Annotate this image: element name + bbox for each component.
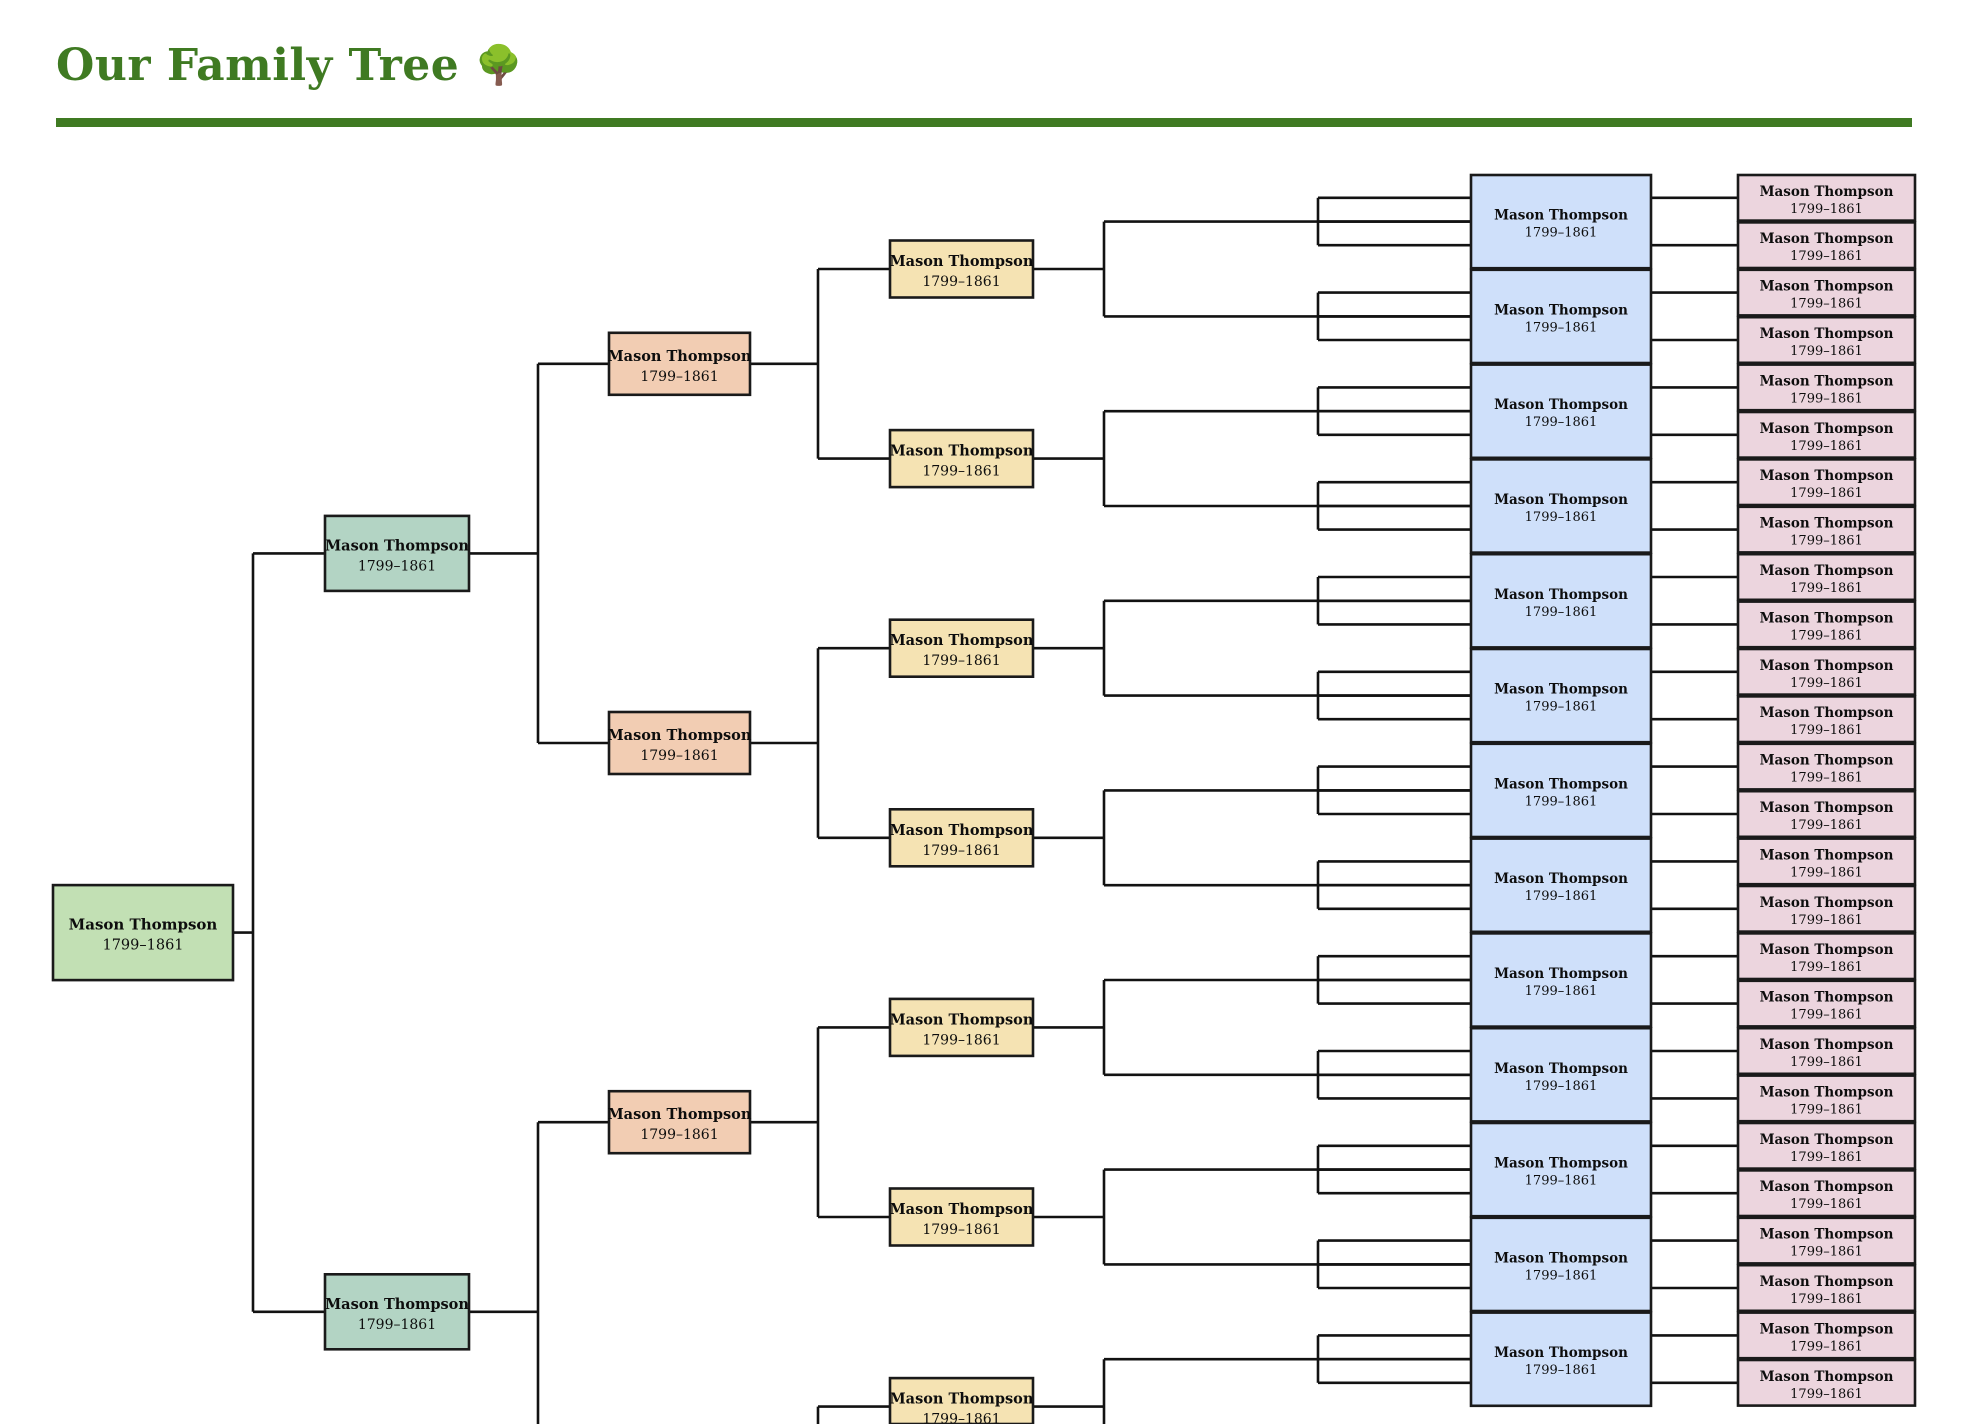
person-dates: 1799–1861 bbox=[1525, 605, 1598, 620]
person-node-generation-2[interactable]: Mason Thompson1799–1861 bbox=[325, 1274, 469, 1349]
person-node-generation-6[interactable]: Mason Thompson1799–1861 bbox=[1738, 175, 1915, 221]
person-dates: 1799–1861 bbox=[1790, 344, 1863, 359]
person-node-generation-2[interactable]: Mason Thompson1799–1861 bbox=[325, 516, 469, 591]
person-dates: 1799–1861 bbox=[1790, 1008, 1863, 1023]
person-dates: 1799–1861 bbox=[1790, 534, 1863, 549]
person-dates: 1799–1861 bbox=[1525, 510, 1598, 525]
person-name: Mason Thompson bbox=[1494, 682, 1628, 698]
person-name: Mason Thompson bbox=[1760, 847, 1894, 863]
person-dates: 1799–1861 bbox=[1525, 1079, 1598, 1094]
family-tree-canvas: Mason Thompson1799–1861Mason Thompson179… bbox=[0, 0, 1968, 1424]
person-node-generation-4[interactable]: Mason Thompson1799–1861 bbox=[890, 241, 1034, 298]
person-node-generation-6[interactable]: Mason Thompson1799–1861 bbox=[1738, 1265, 1915, 1311]
person-node-generation-6[interactable]: Mason Thompson1799–1861 bbox=[1738, 696, 1915, 742]
person-name: Mason Thompson bbox=[1760, 1179, 1894, 1195]
person-dates: 1799–1861 bbox=[1790, 1339, 1863, 1354]
person-dates: 1799–1861 bbox=[358, 1317, 436, 1333]
person-name: Mason Thompson bbox=[1494, 1156, 1628, 1172]
person-node-generation-5[interactable]: Mason Thompson1799–1861 bbox=[1471, 270, 1651, 363]
family-tree-svg: Mason Thompson1799–1861Mason Thompson179… bbox=[0, 0, 1968, 1424]
person-name: Mason Thompson bbox=[1494, 776, 1628, 792]
person-name: Mason Thompson bbox=[1494, 1061, 1628, 1077]
person-dates: 1799–1861 bbox=[922, 843, 1000, 859]
person-name: Mason Thompson bbox=[890, 1391, 1034, 1408]
person-node-generation-6[interactable]: Mason Thompson1799–1861 bbox=[1738, 933, 1915, 979]
person-node-generation-6[interactable]: Mason Thompson1799–1861 bbox=[1738, 886, 1915, 932]
person-dates: 1799–1861 bbox=[922, 1412, 1000, 1424]
person-name: Mason Thompson bbox=[1760, 516, 1894, 532]
person-dates: 1799–1861 bbox=[1525, 1363, 1598, 1378]
person-node-generation-6[interactable]: Mason Thompson1799–1861 bbox=[1738, 459, 1915, 505]
person-name: Mason Thompson bbox=[1760, 1037, 1894, 1053]
person-name: Mason Thompson bbox=[890, 822, 1034, 839]
person-dates: 1799–1861 bbox=[1790, 771, 1863, 786]
person-name: Mason Thompson bbox=[1760, 373, 1894, 389]
person-node-generation-6[interactable]: Mason Thompson1799–1861 bbox=[1738, 1170, 1915, 1216]
person-name: Mason Thompson bbox=[1494, 587, 1628, 603]
person-dates: 1799–1861 bbox=[922, 274, 1000, 290]
person-node-generation-5[interactable]: Mason Thompson1799–1861 bbox=[1471, 1218, 1651, 1311]
person-dates: 1799–1861 bbox=[1790, 249, 1863, 264]
person-node-generation-6[interactable]: Mason Thompson1799–1861 bbox=[1738, 1123, 1915, 1169]
person-node-generation-6[interactable]: Mason Thompson1799–1861 bbox=[1738, 1218, 1915, 1264]
person-name: Mason Thompson bbox=[1760, 753, 1894, 769]
person-dates: 1799–1861 bbox=[1790, 297, 1863, 312]
person-node-generation-5[interactable]: Mason Thompson1799–1861 bbox=[1471, 175, 1651, 268]
person-name: Mason Thompson bbox=[325, 1296, 469, 1313]
person-name: Mason Thompson bbox=[890, 1011, 1034, 1028]
person-name: Mason Thompson bbox=[890, 253, 1034, 270]
person-node-generation-5[interactable]: Mason Thompson1799–1861 bbox=[1471, 459, 1651, 552]
person-name: Mason Thompson bbox=[1494, 397, 1628, 413]
person-name: Mason Thompson bbox=[1494, 302, 1628, 318]
person-node-generation-6[interactable]: Mason Thompson1799–1861 bbox=[1738, 744, 1915, 790]
person-node-generation-6[interactable]: Mason Thompson1799–1861 bbox=[1738, 1076, 1915, 1122]
person-node-generation-6[interactable]: Mason Thompson1799–1861 bbox=[1738, 412, 1915, 458]
person-name: Mason Thompson bbox=[1494, 1250, 1628, 1266]
person-dates: 1799–1861 bbox=[1790, 1102, 1863, 1117]
person-dates: 1799–1861 bbox=[922, 1222, 1000, 1238]
person-dates: 1799–1861 bbox=[1790, 391, 1863, 406]
person-dates: 1799–1861 bbox=[640, 369, 718, 385]
person-dates: 1799–1861 bbox=[102, 938, 183, 954]
person-node-generation-5[interactable]: Mason Thompson1799–1861 bbox=[1471, 365, 1651, 458]
person-dates: 1799–1861 bbox=[1790, 1387, 1863, 1402]
person-name: Mason Thompson bbox=[1760, 326, 1894, 342]
person-name: Mason Thompson bbox=[890, 632, 1034, 649]
person-node-generation-6[interactable]: Mason Thompson1799–1861 bbox=[1738, 839, 1915, 885]
person-dates: 1799–1861 bbox=[1525, 700, 1598, 715]
person-name: Mason Thompson bbox=[1760, 231, 1894, 247]
person-node-generation-6[interactable]: Mason Thompson1799–1861 bbox=[1738, 602, 1915, 648]
person-name: Mason Thompson bbox=[1494, 1345, 1628, 1361]
person-dates: 1799–1861 bbox=[1790, 865, 1863, 880]
person-name: Mason Thompson bbox=[1494, 208, 1628, 224]
person-dates: 1799–1861 bbox=[1790, 723, 1863, 738]
person-name: Mason Thompson bbox=[1760, 279, 1894, 295]
person-dates: 1799–1861 bbox=[1790, 202, 1863, 217]
person-name: Mason Thompson bbox=[1760, 610, 1894, 626]
person-dates: 1799–1861 bbox=[1525, 889, 1598, 904]
person-name: Mason Thompson bbox=[1760, 895, 1894, 911]
person-dates: 1799–1861 bbox=[1525, 415, 1598, 430]
person-node-generation-4[interactable]: Mason Thompson1799–1861 bbox=[890, 620, 1034, 677]
person-name: Mason Thompson bbox=[608, 727, 752, 744]
person-dates: 1799–1861 bbox=[1790, 1245, 1863, 1260]
person-dates: 1799–1861 bbox=[1525, 794, 1598, 809]
person-dates: 1799–1861 bbox=[1790, 913, 1863, 928]
person-name: Mason Thompson bbox=[1760, 1227, 1894, 1243]
person-name: Mason Thompson bbox=[1760, 658, 1894, 674]
person-name: Mason Thompson bbox=[1760, 421, 1894, 437]
person-node-generation-6[interactable]: Mason Thompson1799–1861 bbox=[1738, 1313, 1915, 1359]
person-name: Mason Thompson bbox=[1494, 966, 1628, 982]
person-dates: 1799–1861 bbox=[1790, 1055, 1863, 1070]
person-node-generation-6[interactable]: Mason Thompson1799–1861 bbox=[1738, 791, 1915, 837]
person-name: Mason Thompson bbox=[1760, 468, 1894, 484]
person-node-generation-5[interactable]: Mason Thompson1799–1861 bbox=[1471, 1313, 1651, 1406]
person-node-generation-6[interactable]: Mason Thompson1799–1861 bbox=[1738, 1360, 1915, 1406]
person-dates: 1799–1861 bbox=[922, 1032, 1000, 1048]
person-node-generation-6[interactable]: Mason Thompson1799–1861 bbox=[1738, 554, 1915, 600]
person-dates: 1799–1861 bbox=[640, 1127, 718, 1143]
person-node-generation-5[interactable]: Mason Thompson1799–1861 bbox=[1471, 933, 1651, 1026]
person-dates: 1799–1861 bbox=[1790, 486, 1863, 501]
person-dates: 1799–1861 bbox=[1525, 1174, 1598, 1189]
person-node-generation-5[interactable]: Mason Thompson1799–1861 bbox=[1471, 649, 1651, 742]
person-node-generation-6[interactable]: Mason Thompson1799–1861 bbox=[1738, 365, 1915, 411]
tree-nodes-layer: Mason Thompson1799–1861Mason Thompson179… bbox=[53, 175, 1915, 1424]
person-name: Mason Thompson bbox=[1760, 705, 1894, 721]
person-dates: 1799–1861 bbox=[1790, 818, 1863, 833]
person-dates: 1799–1861 bbox=[1790, 1292, 1863, 1307]
person-node-generation-4[interactable]: Mason Thompson1799–1861 bbox=[890, 1378, 1034, 1424]
person-dates: 1799–1861 bbox=[640, 748, 718, 764]
person-name: Mason Thompson bbox=[69, 916, 218, 934]
person-dates: 1799–1861 bbox=[1790, 676, 1863, 691]
family-tree-page: Our Family Tree 🌳 Mason Thompson1799–186… bbox=[0, 0, 1968, 1424]
person-dates: 1799–1861 bbox=[1790, 1150, 1863, 1165]
person-name: Mason Thompson bbox=[890, 443, 1034, 460]
person-dates: 1799–1861 bbox=[1790, 581, 1863, 596]
person-name: Mason Thompson bbox=[890, 1201, 1034, 1218]
person-name: Mason Thompson bbox=[608, 1106, 752, 1123]
person-name: Mason Thompson bbox=[1760, 1274, 1894, 1290]
person-node-root[interactable]: Mason Thompson1799–1861 bbox=[53, 885, 233, 980]
person-name: Mason Thompson bbox=[1760, 1084, 1894, 1100]
person-name: Mason Thompson bbox=[1760, 942, 1894, 958]
person-node-generation-6[interactable]: Mason Thompson1799–1861 bbox=[1738, 649, 1915, 695]
person-dates: 1799–1861 bbox=[358, 558, 436, 574]
person-dates: 1799–1861 bbox=[1525, 1268, 1598, 1283]
person-node-generation-5[interactable]: Mason Thompson1799–1861 bbox=[1471, 839, 1651, 932]
person-name: Mason Thompson bbox=[1760, 563, 1894, 579]
person-node-generation-3[interactable]: Mason Thompson1799–1861 bbox=[608, 1091, 752, 1153]
person-node-generation-5[interactable]: Mason Thompson1799–1861 bbox=[1471, 554, 1651, 647]
person-dates: 1799–1861 bbox=[1790, 439, 1863, 454]
person-dates: 1799–1861 bbox=[922, 464, 1000, 480]
person-node-generation-3[interactable]: Mason Thompson1799–1861 bbox=[608, 712, 752, 774]
person-name: Mason Thompson bbox=[1760, 1132, 1894, 1148]
person-dates: 1799–1861 bbox=[1790, 960, 1863, 975]
person-name: Mason Thompson bbox=[1760, 800, 1894, 816]
person-node-generation-6[interactable]: Mason Thompson1799–1861 bbox=[1738, 222, 1915, 268]
person-node-generation-6[interactable]: Mason Thompson1799–1861 bbox=[1738, 1028, 1915, 1074]
person-node-generation-6[interactable]: Mason Thompson1799–1861 bbox=[1738, 507, 1915, 553]
person-node-generation-4[interactable]: Mason Thompson1799–1861 bbox=[890, 999, 1034, 1056]
person-dates: 1799–1861 bbox=[1525, 226, 1598, 241]
person-name: Mason Thompson bbox=[608, 348, 752, 365]
person-dates: 1799–1861 bbox=[1525, 320, 1598, 335]
person-name: Mason Thompson bbox=[1760, 1369, 1894, 1385]
person-node-generation-6[interactable]: Mason Thompson1799–1861 bbox=[1738, 270, 1915, 316]
person-name: Mason Thompson bbox=[1760, 990, 1894, 1006]
person-dates: 1799–1861 bbox=[1790, 628, 1863, 643]
person-dates: 1799–1861 bbox=[922, 653, 1000, 669]
person-name: Mason Thompson bbox=[1494, 871, 1628, 887]
person-node-generation-5[interactable]: Mason Thompson1799–1861 bbox=[1471, 1123, 1651, 1216]
person-node-generation-5[interactable]: Mason Thompson1799–1861 bbox=[1471, 1028, 1651, 1121]
person-name: Mason Thompson bbox=[1760, 184, 1894, 200]
person-dates: 1799–1861 bbox=[1525, 984, 1598, 999]
person-name: Mason Thompson bbox=[1494, 492, 1628, 508]
person-dates: 1799–1861 bbox=[1790, 1197, 1863, 1212]
person-node-generation-4[interactable]: Mason Thompson1799–1861 bbox=[890, 809, 1034, 866]
person-node-generation-4[interactable]: Mason Thompson1799–1861 bbox=[890, 430, 1034, 487]
person-node-generation-3[interactable]: Mason Thompson1799–1861 bbox=[608, 333, 752, 395]
person-name: Mason Thompson bbox=[1760, 1321, 1894, 1337]
person-name: Mason Thompson bbox=[325, 537, 469, 554]
person-node-generation-5[interactable]: Mason Thompson1799–1861 bbox=[1471, 744, 1651, 837]
person-node-generation-6[interactable]: Mason Thompson1799–1861 bbox=[1738, 317, 1915, 363]
person-node-generation-4[interactable]: Mason Thompson1799–1861 bbox=[890, 1189, 1034, 1246]
person-node-generation-6[interactable]: Mason Thompson1799–1861 bbox=[1738, 981, 1915, 1027]
